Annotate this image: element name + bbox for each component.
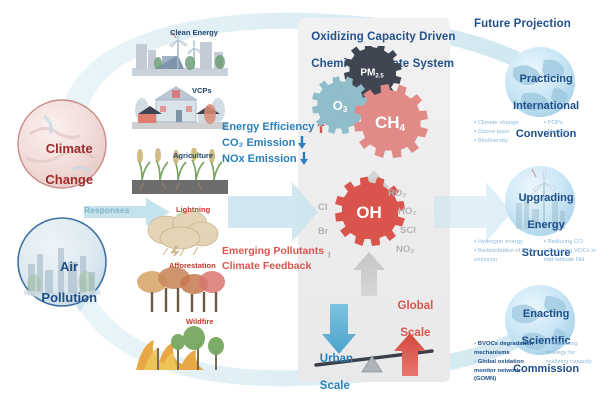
- forest-trees-icon: [132, 266, 228, 314]
- card-2-title-line0: Enacting: [523, 308, 569, 320]
- card-0-bullets: ▪ Climate change ▪ Ozone layer ▪ Biodive…: [466, 119, 598, 146]
- wildfire-icon: [132, 322, 228, 372]
- card-0-bullet-r0: ▪ POPs: [544, 119, 598, 128]
- mitigation-item-1-text: CO₂ Emission: [222, 137, 295, 149]
- gear-oh: OH: [335, 177, 405, 247]
- urban-scale-line1: Urban: [320, 353, 353, 365]
- global-scale-label: Global Scale: [378, 287, 440, 353]
- card-1-bullet-r0: ▪ Reducing CO: [544, 238, 598, 247]
- driver-label-lightning: Lightning: [176, 206, 210, 215]
- card-1-bullets: ▪ Hydrogen energy ▪ Redistribution of NO…: [466, 238, 598, 265]
- center-title-line1: Oxidizing Capacity Driven: [311, 31, 455, 43]
- card-0-title-line0: Practicing: [520, 73, 573, 85]
- radical-i: I: [328, 251, 331, 262]
- urban-scale-line2: Scale: [320, 380, 350, 392]
- card-1-bullet-r1: ▪ Reducing VOCs in mid-latitude NH: [544, 247, 598, 265]
- future-projection-header: Future Projection: [474, 18, 571, 31]
- radical-cl: Cl: [318, 203, 328, 214]
- climate-change-line1: Climate: [46, 141, 93, 156]
- driver-label-vcps: VCPs: [192, 87, 212, 96]
- global-scale-line2: Scale: [400, 327, 430, 339]
- urban-scale-label: Urban Scale: [307, 340, 353, 406]
- radical-ho2: HO₂: [398, 207, 416, 218]
- radical-ro2: RO₂: [388, 189, 406, 200]
- climate-change-line2: Change: [45, 172, 93, 187]
- radical-br: Br: [318, 227, 329, 238]
- card-1-title-line0: Upgrading: [519, 192, 574, 204]
- card-2-bullet-r0: ▪ Regulating strategy for oxidizing capa…: [546, 340, 598, 367]
- air-pollution-line2: Pollution: [41, 290, 97, 305]
- card-0-bullet-l1: ▪ Ozone layer: [474, 128, 536, 137]
- driver-label-afforestation: Afforestation: [169, 262, 216, 271]
- thunderstorm-cloud-icon: [140, 208, 226, 256]
- mitigation-item-2-text: NOx Emission: [222, 153, 297, 165]
- driver-label-wildfire: Wildfire: [186, 318, 213, 327]
- card-0-title-line1: International: [513, 100, 579, 112]
- card-0-bullet-r1: ▪ Mercury: [544, 128, 598, 137]
- card-2-bullets: ▪ BVOCs degradation mechanisms ▪ Global …: [466, 340, 598, 384]
- card-2-bullet-l0: ▪ BVOCs degradation mechanisms: [474, 340, 538, 358]
- climate-change-label: Climate Change: [14, 125, 110, 203]
- card-0-bullet-l2: ▪ Biodiversity: [474, 137, 536, 146]
- radical-sci: SCI: [400, 226, 416, 237]
- driver-label-agriculture: Agriculture: [173, 152, 213, 161]
- driver-label-clean-energy: Clean Energy: [170, 29, 218, 38]
- card-1-bullet-l1: ▪ Redistribution of NOx emission: [474, 247, 536, 265]
- card-2-bullet-l1: ▪ Global oxidation monitor network (GOMN…: [474, 358, 538, 385]
- air-pollution-label: Air Pollution: [14, 243, 110, 321]
- house-volatile-chemical-products-icon: [132, 84, 228, 130]
- svg-text:OH: OH: [356, 203, 382, 222]
- card-0-bullet-l0: ▪ Climate change: [474, 119, 536, 128]
- diagram-canvas: Climate Change Air Pollution Responses: [0, 0, 600, 400]
- card-1-bullet-l0: ▪ Hydrogen energy: [474, 238, 536, 247]
- card-1-title-line1: Energy: [527, 219, 564, 231]
- responses-label: Responses: [84, 206, 129, 216]
- radical-no2: NO₂: [396, 245, 414, 256]
- gear-ch4: CH4: [354, 84, 428, 158]
- air-pollution-line1: Air: [60, 259, 78, 274]
- global-scale-line1: Global: [398, 300, 434, 312]
